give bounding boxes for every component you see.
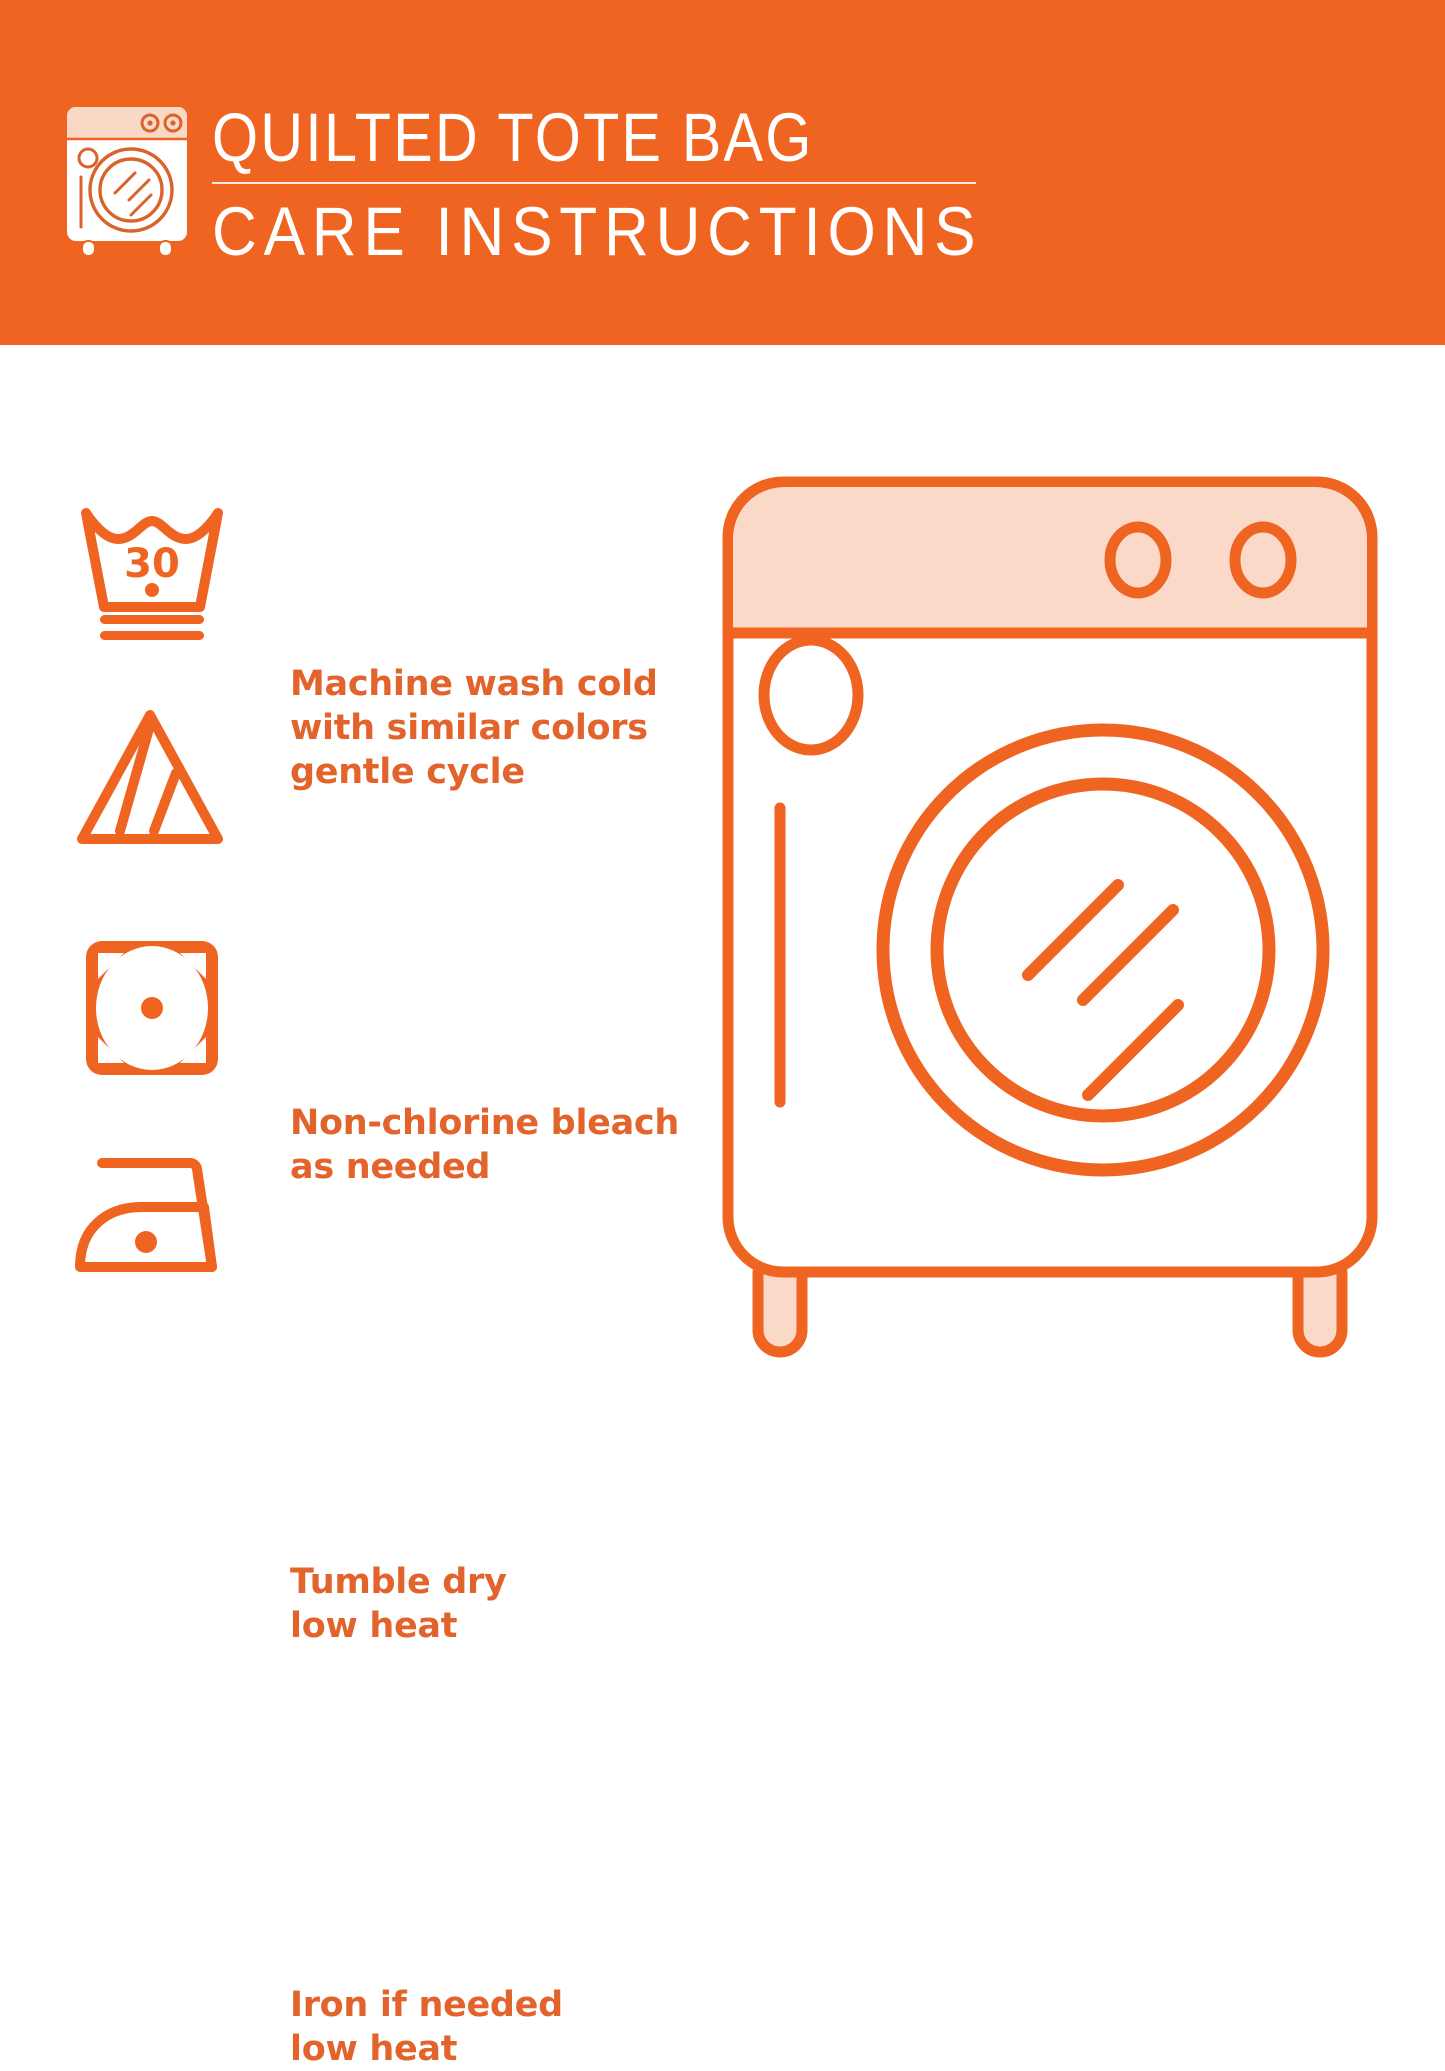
care-row-bleach: Non-chlorine bleach as needed [0, 703, 700, 863]
iron-low-heat-icon [72, 1145, 232, 1295]
wash-tub-30-gentle-icon: 30 [72, 495, 232, 645]
care-row-tumble-dry: Tumble dry low heat [0, 933, 700, 1093]
washing-machine-illustration [718, 470, 1418, 1380]
care-text-iron: Iron if needed low heat [290, 1983, 563, 2071]
page-subtitle: CARE INSTRUCTIONS [212, 192, 982, 272]
header-title-block: QUILTED TOTE BAG [212, 100, 1212, 176]
washing-machine-icon [63, 103, 191, 258]
care-text-tumble-dry: Tumble dry low heat [290, 1560, 507, 1648]
tumble-dry-low-icon [72, 933, 232, 1083]
care-instruction-list: 30 Machine wash cold with similar colors… [0, 345, 700, 1445]
header-banner: QUILTED TOTE BAG CARE INSTRUCTIONS [0, 0, 1445, 345]
triangle-non-chlorine-bleach-icon [72, 703, 232, 853]
title-divider [212, 182, 976, 184]
svg-text:30: 30 [124, 541, 180, 587]
page-title: QUILTED TOTE BAG [212, 100, 1072, 176]
care-row-iron: Iron if needed low heat [0, 1145, 700, 1305]
care-row-machine-wash: 30 Machine wash cold with similar colors… [0, 495, 700, 665]
